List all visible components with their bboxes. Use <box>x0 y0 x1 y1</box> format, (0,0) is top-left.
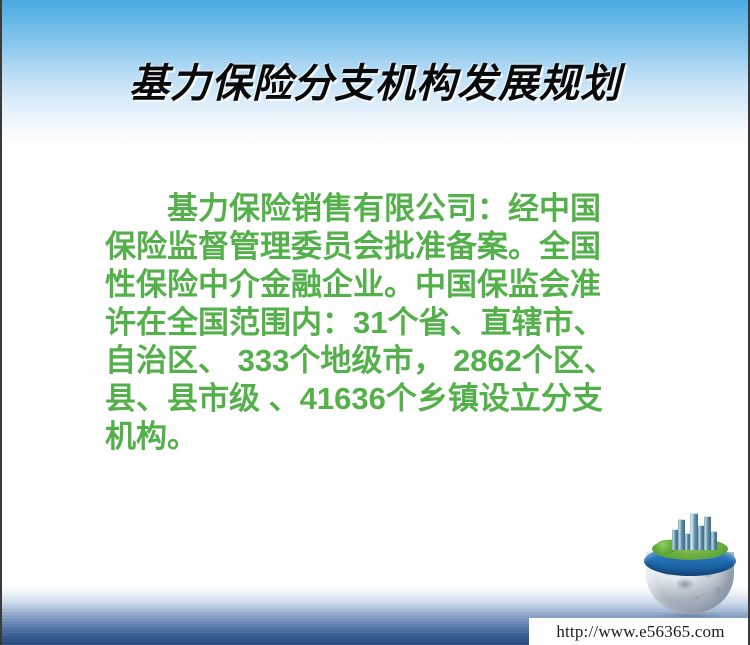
body-line: 许在全国范围内：31个省、直辖市、 <box>105 304 665 342</box>
body-line: 性保险中介金融企业。中国保监会准 <box>105 266 665 304</box>
body-line: 机构。 <box>105 418 665 456</box>
globe-city-logo-icon <box>638 508 742 620</box>
building <box>704 516 711 550</box>
watermark-url: http://www.e56365.com <box>529 618 750 645</box>
city-skyline-icon <box>672 514 718 550</box>
body-line: 保险监督管理委员会批准备案。全国 <box>105 228 665 266</box>
slide-body-text: 基力保险销售有限公司：经中国 保险监督管理委员会批准备案。全国 性保险中介金融企… <box>105 190 665 456</box>
presentation-slide: 基力保险分支机构发展规划 基力保险销售有限公司：经中国 保险监督管理委员会批准备… <box>0 0 750 645</box>
body-line: 县、县市级 、41636个乡镇设立分支 <box>105 380 665 418</box>
body-line: 基力保险销售有限公司：经中国 <box>105 190 665 228</box>
body-line: 自治区、 333个地级市， 2862个区、 <box>105 342 665 380</box>
building <box>690 513 698 550</box>
building <box>711 531 717 550</box>
building <box>678 519 685 550</box>
slide-title: 基力保险分支机构发展规划 <box>2 58 748 110</box>
